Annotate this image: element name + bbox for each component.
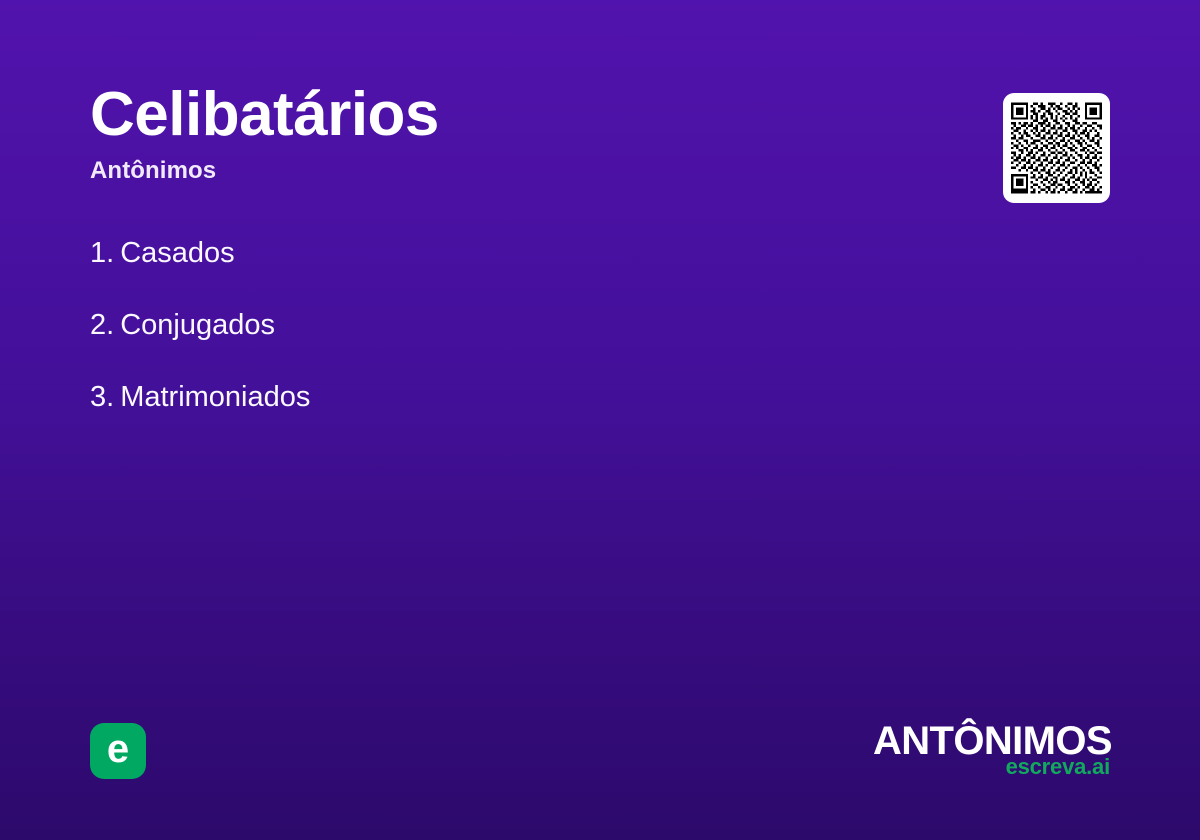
list-item-index: 1.: [90, 236, 114, 270]
list-item: 1.Casados: [90, 236, 990, 270]
page-subtitle: Antônimos: [90, 157, 950, 186]
page-title: Celibatários: [90, 82, 950, 149]
list-item: 2.Conjugados: [90, 308, 990, 342]
escreva-brand-badge[interactable]: e: [90, 723, 146, 779]
headline-block: Celibatários Antônimos: [90, 82, 950, 186]
list-item-index: 2.: [90, 308, 114, 342]
antonyms-list: 1.Casados 2.Conjugados 3.Matrimoniados: [90, 236, 990, 453]
list-item: 3.Matrimoniados: [90, 380, 990, 414]
list-item-label: Matrimoniados: [120, 381, 310, 413]
brand-badge-letter: e: [107, 729, 129, 769]
qr-code-icon: [1011, 101, 1102, 195]
list-item-index: 3.: [90, 380, 114, 414]
list-item-label: Casados: [120, 237, 234, 269]
qr-code-card[interactable]: [1003, 93, 1110, 203]
antonyms-word-card: Celibatários Antônimos 1.Casados 2.Conju…: [0, 0, 1200, 840]
footer-logo[interactable]: ANTÔNIMOS escreva.ai: [852, 722, 1112, 778]
list-item-label: Conjugados: [120, 309, 275, 341]
